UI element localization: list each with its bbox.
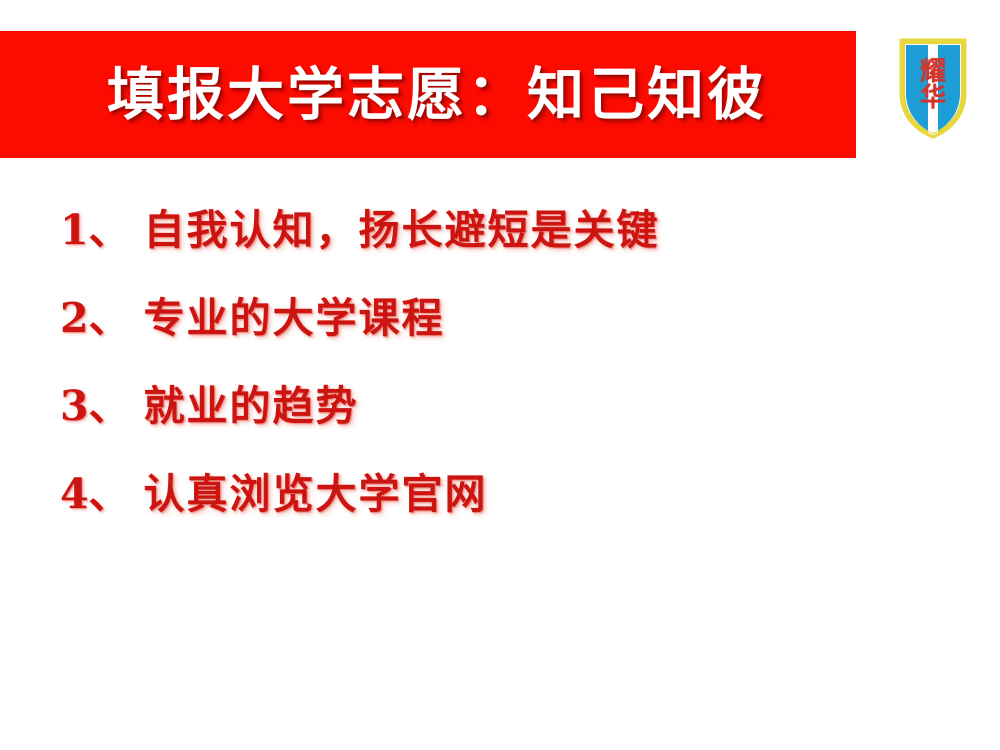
title-banner: 填报大学志愿：知己知彼 <box>0 31 856 158</box>
list-item: 2 、 专业的大学课程 <box>60 284 920 372</box>
school-shield-logo: 耀 华 <box>898 37 968 139</box>
slide-canvas: 填报大学志愿：知己知彼 耀 华 1 、 自我认知，扬长避短是关键 2 <box>0 0 1000 750</box>
list-item-label: 自我认知，扬长避短是关键 <box>144 196 660 256</box>
list-item-label: 认真浏览大学官网 <box>144 460 488 520</box>
list-item-label: 专业的大学课程 <box>144 284 445 344</box>
page-title: 填报大学志愿：知己知彼 <box>0 65 856 125</box>
bullet-list: 1 、 自我认知，扬长避短是关键 2 、 专业的大学课程 3 、 就业的趋势 4… <box>60 196 920 548</box>
list-item: 3 、 就业的趋势 <box>60 372 920 460</box>
list-item-separator: 、 <box>89 284 130 344</box>
list-item: 4 、 认真浏览大学官网 <box>60 460 920 548</box>
list-item-label: 就业的趋势 <box>144 372 359 432</box>
list-item-number: 3 <box>60 382 89 430</box>
list-item: 1 、 自我认知，扬长避短是关键 <box>60 196 920 284</box>
list-item-number: 4 <box>60 470 89 518</box>
list-item-number: 2 <box>60 294 89 342</box>
list-item-separator: 、 <box>89 372 130 432</box>
list-item-separator: 、 <box>89 196 130 256</box>
list-item-separator: 、 <box>89 460 130 520</box>
list-item-number: 1 <box>60 206 89 254</box>
